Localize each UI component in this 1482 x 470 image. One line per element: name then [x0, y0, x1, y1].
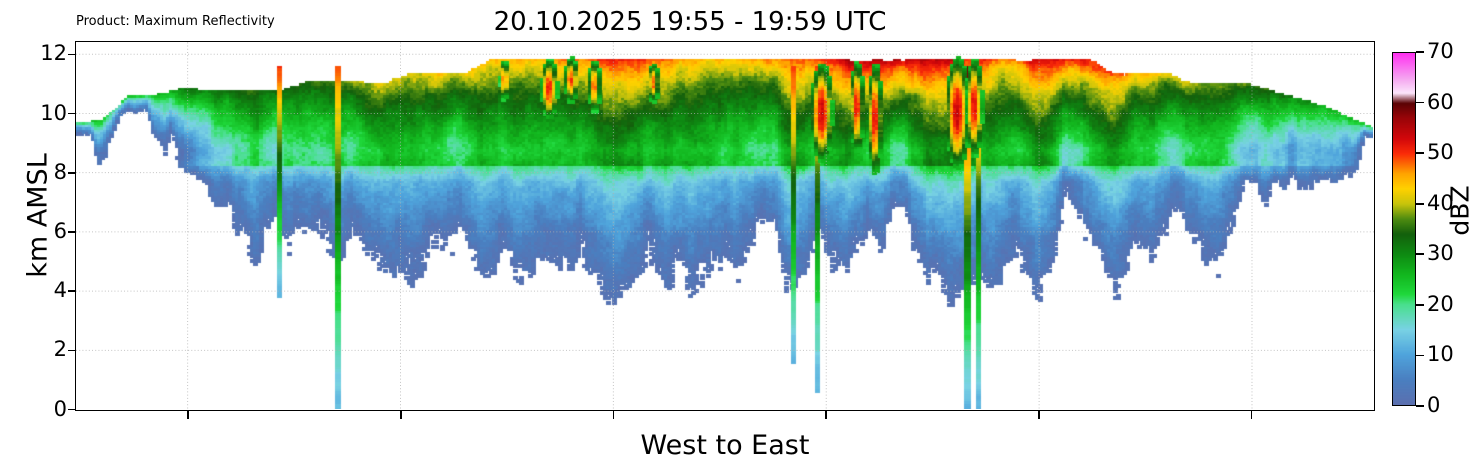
colorbar-label: dBZ — [1446, 151, 1475, 271]
y-axis-label: km AMSL — [23, 116, 54, 316]
y-tick-mark — [68, 172, 76, 174]
colorbar — [1392, 52, 1416, 406]
plot-area — [75, 41, 1375, 411]
x-tick-mark — [1251, 411, 1253, 419]
y-tick-label: 0 — [54, 399, 67, 420]
colorbar-tick-mark — [1416, 102, 1424, 104]
y-tick-label: 6 — [54, 221, 67, 242]
x-axis-label: West to East — [75, 430, 1375, 462]
x-tick-mark — [400, 411, 402, 419]
x-tick-mark — [825, 411, 827, 419]
y-tick-mark — [68, 290, 76, 292]
page-title: 20.10.2025 19:55 - 19:59 UTC — [0, 6, 1380, 38]
y-tick-label: 2 — [54, 339, 67, 360]
colorbar-tick-mark — [1416, 152, 1424, 154]
y-tick-label: 10 — [40, 103, 67, 124]
colorbar-tick-mark — [1416, 355, 1424, 357]
colorbar-tick-mark — [1416, 203, 1424, 205]
y-tick-label: 4 — [54, 280, 67, 301]
x-tick-mark — [1038, 411, 1040, 419]
colorbar-tick-label: 70 — [1427, 41, 1454, 62]
colorbar-tick-label: 10 — [1427, 344, 1454, 365]
colorbar-gradient — [1393, 53, 1415, 405]
colorbar-tick-label: 0 — [1427, 395, 1440, 416]
y-tick-mark — [68, 409, 76, 411]
reflectivity-heatmap — [76, 42, 1373, 409]
x-tick-mark — [187, 411, 189, 419]
colorbar-tick-mark — [1416, 253, 1424, 255]
y-tick-mark — [68, 231, 76, 233]
y-tick-label: 12 — [40, 43, 67, 64]
colorbar-tick-mark — [1416, 405, 1424, 407]
y-tick-mark — [68, 113, 76, 115]
y-tick-mark — [68, 350, 76, 352]
colorbar-tick-label: 60 — [1427, 92, 1454, 113]
y-tick-label: 8 — [54, 162, 67, 183]
y-tick-mark — [68, 54, 76, 56]
radar-cross-section-figure: Product: Maximum Reflectivity 20.10.2025… — [0, 0, 1482, 470]
x-tick-mark — [613, 411, 615, 419]
colorbar-tick-mark — [1416, 51, 1424, 53]
colorbar-tick-label: 20 — [1427, 294, 1454, 315]
colorbar-tick-mark — [1416, 304, 1424, 306]
